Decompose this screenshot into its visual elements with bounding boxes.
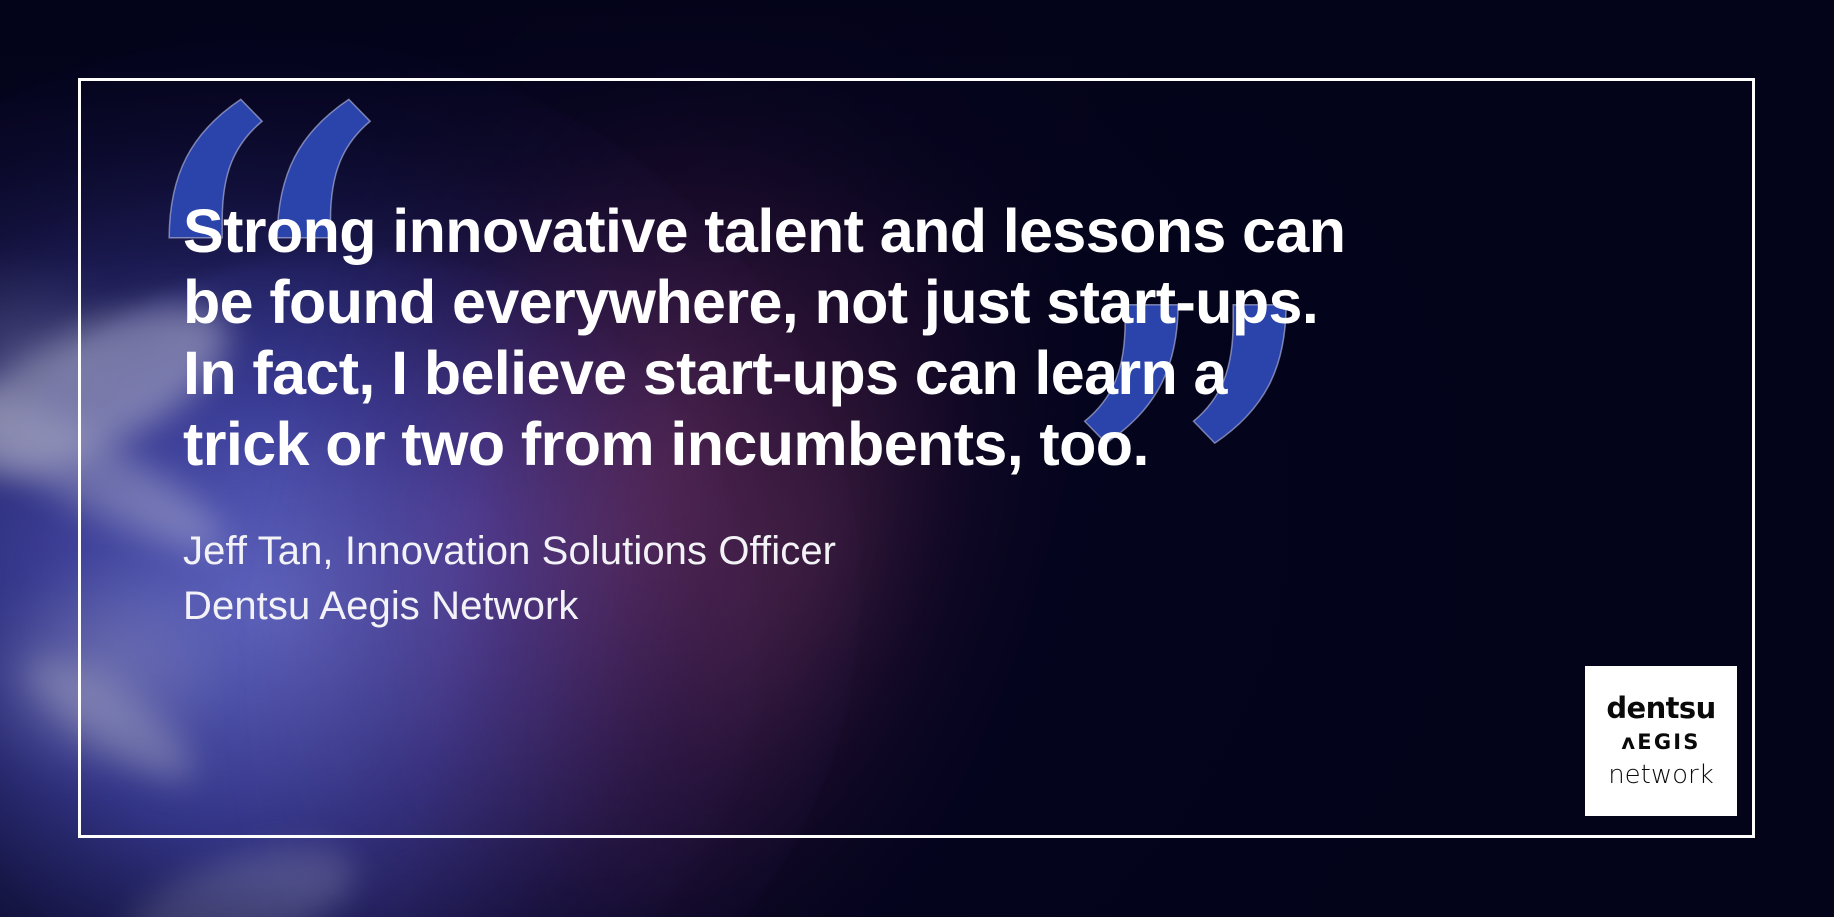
attribution: Jeff Tan, Innovation Solutions Officer D… <box>183 524 1473 634</box>
quote-text: Strong innovative talent and lessons can… <box>183 196 1473 480</box>
dentsu-aegis-network-logo: dentsu ʌEGIS network <box>1585 666 1737 816</box>
attribution-name-title: Jeff Tan, Innovation Solutions Officer <box>183 524 1473 579</box>
quote-line: In fact, I believe start-ups can learn a <box>183 338 1473 409</box>
logo-aegis-text: ʌEGIS <box>1621 732 1700 753</box>
quote-line: be found everywhere, not just start-ups. <box>183 267 1473 338</box>
quote-line: Strong innovative talent and lessons can <box>183 196 1473 267</box>
content-block: Strong innovative talent and lessons can… <box>183 196 1473 634</box>
quote-card: “ ” Strong innovative talent and lessons… <box>0 0 1834 917</box>
logo-network-text: network <box>1608 762 1714 788</box>
quote-line: trick or two from incumbents, too. <box>183 409 1473 480</box>
attribution-company: Dentsu Aegis Network <box>183 579 1473 634</box>
logo-dentsu-text: dentsu <box>1606 694 1715 723</box>
